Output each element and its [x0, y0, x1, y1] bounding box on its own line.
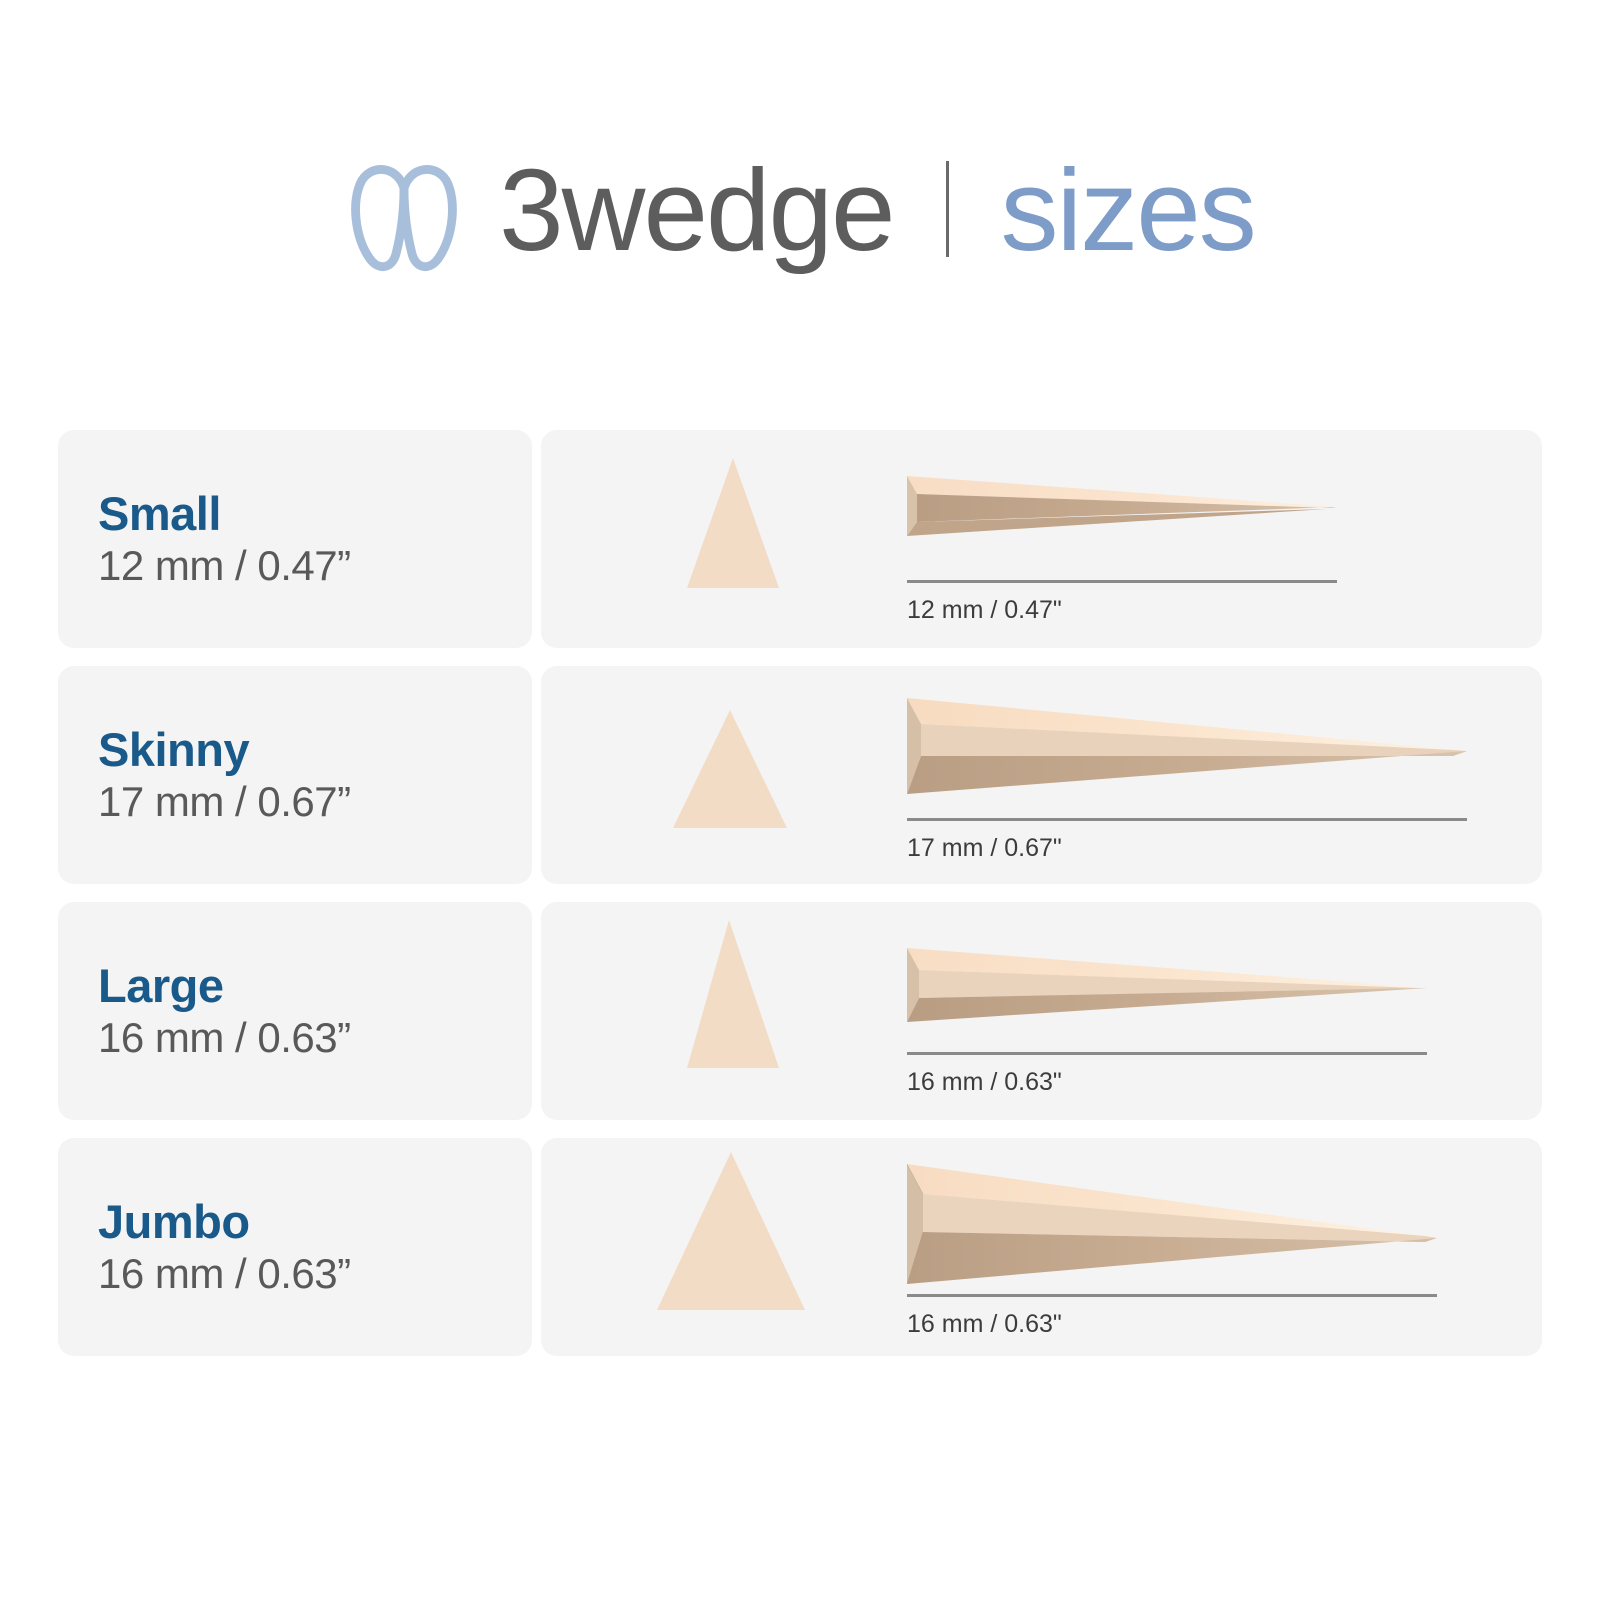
measure-caption: 16 mm / 0.63"	[907, 1068, 1062, 1097]
measure-caption: 16 mm / 0.63"	[907, 1310, 1062, 1339]
size-dimension: 16 mm / 0.63”	[98, 1249, 532, 1299]
size-label-panel-skinny: Skinny 17 mm / 0.67”	[58, 666, 532, 884]
header-divider	[946, 161, 949, 257]
size-visual-panel-skinny: 17 mm / 0.67"	[541, 666, 1542, 884]
measure-caption: 17 mm / 0.67"	[907, 834, 1062, 863]
size-name: Large	[98, 960, 532, 1013]
measure-rule	[907, 580, 1337, 583]
tooth-logo-icon	[345, 155, 463, 275]
size-name: Skinny	[98, 724, 532, 777]
wedge-illustration	[907, 474, 1337, 542]
size-label-panel-small: Small 12 mm / 0.47”	[58, 430, 532, 648]
size-name: Jumbo	[98, 1196, 532, 1249]
size-label-panel-jumbo: Jumbo 16 mm / 0.63”	[58, 1138, 532, 1356]
size-visual-panel-small: 12 mm / 0.47"	[541, 430, 1542, 648]
measure-rule	[907, 1294, 1437, 1297]
table-row: Large 16 mm / 0.63”	[58, 902, 1542, 1120]
size-dimension: 16 mm / 0.63”	[98, 1013, 532, 1063]
table-row: Small 12 mm / 0.47”	[58, 430, 1542, 648]
page-header: 3wedge sizes	[0, 0, 1600, 430]
cross-section-triangle	[657, 1152, 805, 1310]
size-name: Small	[98, 488, 532, 541]
brand-title: 3wedge	[499, 152, 893, 278]
cross-section-triangle	[687, 458, 779, 588]
wedge-illustration	[907, 946, 1427, 1028]
size-label-panel-large: Large 16 mm / 0.63”	[58, 902, 532, 1120]
cross-section-triangle	[673, 710, 787, 828]
page-subtitle: sizes	[1001, 152, 1255, 278]
wedge-illustration	[907, 694, 1467, 802]
size-rows: Small 12 mm / 0.47”	[0, 430, 1600, 1356]
cross-section-triangle	[687, 920, 779, 1068]
measure-caption: 12 mm / 0.47"	[907, 596, 1062, 625]
measure-rule	[907, 818, 1467, 821]
wedge-illustration	[907, 1160, 1437, 1292]
size-visual-panel-jumbo: 16 mm / 0.63"	[541, 1138, 1542, 1356]
table-row: Jumbo 16 mm / 0.63”	[58, 1138, 1542, 1356]
size-visual-panel-large: 16 mm / 0.63"	[541, 902, 1542, 1120]
size-dimension: 12 mm / 0.47”	[98, 541, 532, 591]
table-row: Skinny 17 mm / 0.67”	[58, 666, 1542, 884]
measure-rule	[907, 1052, 1427, 1055]
size-dimension: 17 mm / 0.67”	[98, 777, 532, 827]
